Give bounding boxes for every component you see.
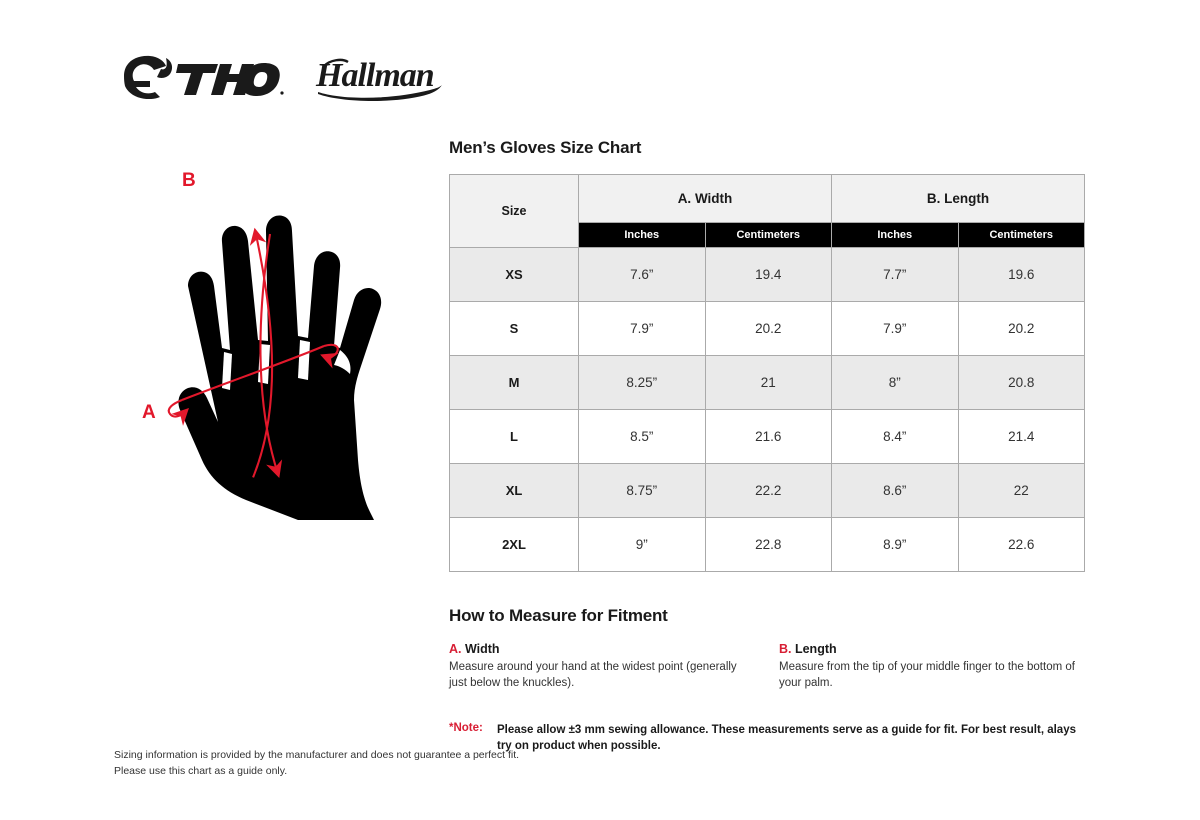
- header-size: Size: [450, 175, 579, 248]
- cell-length-inches: 8.6”: [832, 464, 959, 518]
- how-to-measure-section: How to Measure for Fitment A. Width Meas…: [449, 606, 1085, 692]
- cell-length-inches: 7.7”: [832, 248, 959, 302]
- cell-width-inches: 7.9”: [579, 302, 706, 356]
- cell-width-centimeters: 22.2: [705, 464, 832, 518]
- header-length-centimeters: Centimeters: [958, 223, 1085, 248]
- cell-width-centimeters: 21: [705, 356, 832, 410]
- table-header-group-row: Size A. Width B. Length: [450, 175, 1085, 223]
- cell-width-inches: 7.6”: [579, 248, 706, 302]
- cell-length-inches: 8.4”: [832, 410, 959, 464]
- thor-logo: [114, 53, 286, 99]
- cell-length-centimeters: 22.6: [958, 518, 1085, 572]
- table-row: XL 8.75” 22.2 8.6” 22: [450, 464, 1085, 518]
- cell-width-centimeters: 21.6: [705, 410, 832, 464]
- diagram-label-b: B: [182, 170, 196, 191]
- brand-logo-bar: Hallman: [114, 50, 448, 102]
- cell-length-inches: 8.9”: [832, 518, 959, 572]
- footer-disclaimer: Sizing information is provided by the ma…: [114, 748, 519, 780]
- measure-width-label: A. Width: [449, 642, 779, 656]
- main-content: Men’s Gloves Size Chart Size A. Width B.…: [449, 138, 1085, 755]
- cell-length-inches: 7.9”: [832, 302, 959, 356]
- header-width-centimeters: Centimeters: [705, 223, 832, 248]
- hallman-logo: Hallman: [312, 50, 448, 102]
- diagram-label-a: A: [142, 402, 156, 423]
- header-group-width: A. Width: [579, 175, 832, 223]
- measure-length-name: Length: [792, 642, 837, 656]
- cell-size: S: [450, 302, 579, 356]
- header-width-inches: Inches: [579, 223, 706, 248]
- measure-width-name: Width: [462, 642, 500, 656]
- note-text: Please allow ±3 mm sewing allowance. The…: [497, 722, 1085, 755]
- table-row: S 7.9” 20.2 7.9” 20.2: [450, 302, 1085, 356]
- cell-size: 2XL: [450, 518, 579, 572]
- cell-length-centimeters: 21.4: [958, 410, 1085, 464]
- cell-size: XL: [450, 464, 579, 518]
- cell-width-inches: 8.75”: [579, 464, 706, 518]
- cell-width-centimeters: 20.2: [705, 302, 832, 356]
- cell-length-centimeters: 22: [958, 464, 1085, 518]
- cell-length-centimeters: 20.2: [958, 302, 1085, 356]
- cell-width-inches: 8.25”: [579, 356, 706, 410]
- size-chart-table: Size A. Width B. Length Inches Centimete…: [449, 174, 1085, 572]
- table-row: XS 7.6” 19.4 7.7” 19.6: [450, 248, 1085, 302]
- svg-text:Hallman: Hallman: [315, 57, 434, 94]
- measure-length-label: B. Length: [779, 642, 1085, 656]
- how-to-measure-heading: How to Measure for Fitment: [449, 606, 1085, 626]
- cell-length-inches: 8”: [832, 356, 959, 410]
- cell-width-centimeters: 19.4: [705, 248, 832, 302]
- table-row: 2XL 9” 22.8 8.9” 22.6: [450, 518, 1085, 572]
- measure-length-tag: B.: [779, 642, 792, 656]
- cell-size: XS: [450, 248, 579, 302]
- note-row: *Note: Please allow ±3 mm sewing allowan…: [449, 722, 1085, 755]
- cell-length-centimeters: 19.6: [958, 248, 1085, 302]
- hand-measurement-diagram: B A: [118, 160, 428, 550]
- measure-width-text: Measure around your hand at the widest p…: [449, 659, 749, 692]
- header-length-inches: Inches: [832, 223, 959, 248]
- cell-width-centimeters: 22.8: [705, 518, 832, 572]
- page-title: Men’s Gloves Size Chart: [449, 138, 1085, 158]
- cell-size: M: [450, 356, 579, 410]
- table-row: L 8.5” 21.6 8.4” 21.4: [450, 410, 1085, 464]
- measure-length-block: B. Length Measure from the tip of your m…: [779, 642, 1085, 692]
- measure-length-text: Measure from the tip of your middle fing…: [779, 659, 1079, 692]
- measure-width-tag: A.: [449, 642, 462, 656]
- cell-width-inches: 9”: [579, 518, 706, 572]
- footer-line-2: Please use this chart as a guide only.: [114, 764, 519, 780]
- measure-width-block: A. Width Measure around your hand at the…: [449, 642, 779, 692]
- cell-width-inches: 8.5”: [579, 410, 706, 464]
- hand-silhouette: [178, 215, 381, 520]
- table-row: M 8.25” 21 8” 20.8: [450, 356, 1085, 410]
- footer-line-1: Sizing information is provided by the ma…: [114, 748, 519, 764]
- header-group-length: B. Length: [832, 175, 1085, 223]
- cell-length-centimeters: 20.8: [958, 356, 1085, 410]
- cell-size: L: [450, 410, 579, 464]
